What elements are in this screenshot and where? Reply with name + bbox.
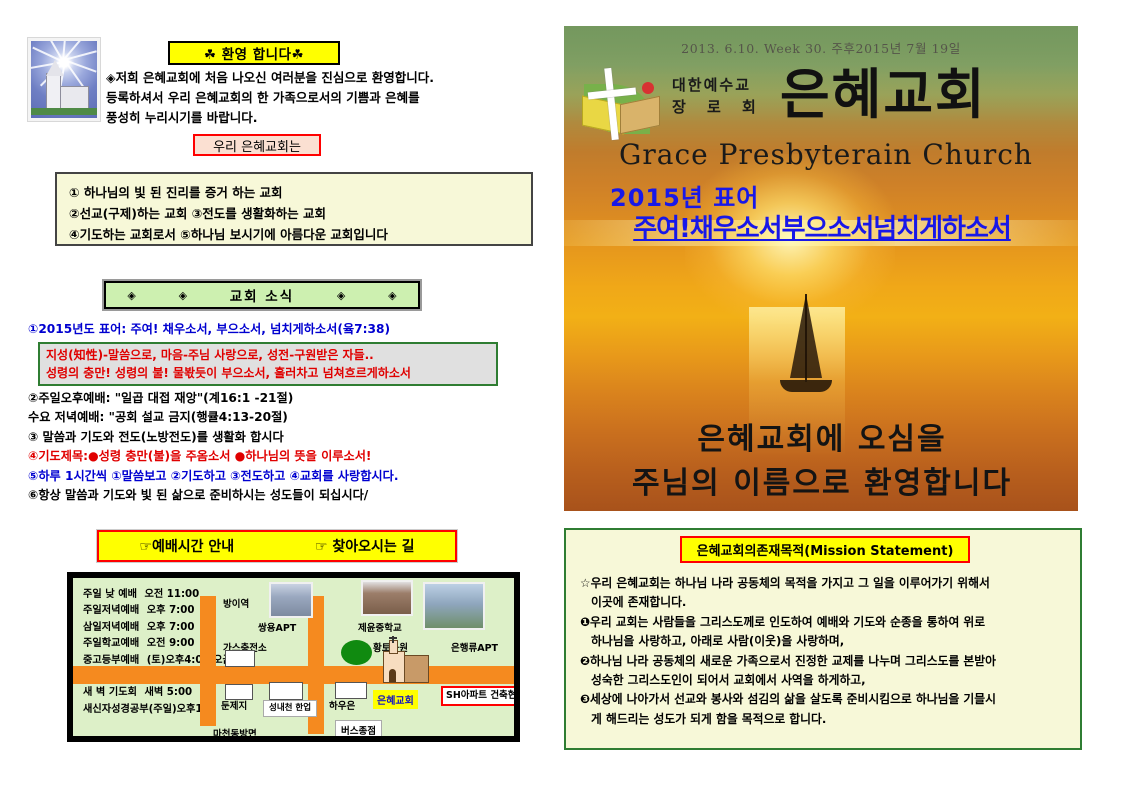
welcome-line-2: 등록하셔서 우리 은혜교회의 한 가족으로서의 기쁨과 은혜를	[106, 88, 536, 108]
mission-statement-body: ☆우리 은혜교회는 하나님 나라 공동체의 목적을 가지고 그 일을 이루어가기…	[580, 574, 1070, 729]
service-name: 새신자성경공부(주일)오후1시	[83, 704, 212, 715]
news-item: ⑤하루 1시간씩 ①말씀보고 ②기도하고 ③전도하고 ④교회를 사랑합시다.	[28, 467, 548, 487]
news-item: ②주일오후예배: "일곱 대접 재앙"(계16:1 -21절)	[28, 389, 548, 409]
identity-line: ④기도하는 교회로서 ⑤하나님 보시기에 아름다운 교회입니다	[69, 224, 519, 245]
news-item: ③ 말씀과 기도와 전도(노방전도)를 생활화 합시다	[28, 428, 548, 448]
our-church-label: 우리 은혜교회는	[193, 134, 321, 156]
map-label-reservoir: 둔제지	[221, 698, 247, 712]
bulletin-date: 2013. 6.10. Week 30. 주후2015년 7월 19일	[564, 38, 1078, 57]
map-photo-school	[361, 580, 413, 616]
welcome-line-3: 풍성히 누리시기를 바랍니다.	[106, 108, 536, 128]
map-label-bus-terminal: 버스종점	[335, 720, 382, 740]
church-hero-banner: 2013. 6.10. Week 30. 주후2015년 7월 19일 대한예수…	[564, 26, 1078, 511]
hero-welcome-line-1: 은혜교회에 오심을	[568, 414, 1076, 458]
map-label-apt2: 은행류APT	[451, 640, 498, 654]
news-item: ⑥항상 말씀과 기도와 빛 된 삶으로 준비하시는 성도들이 되십시다/	[28, 486, 548, 506]
map-label-bank: 하우은	[329, 698, 355, 712]
map-label-apt1: 쌍용APT	[258, 620, 296, 634]
identity-line: ① 하나님의 빛 된 진리를 증거 하는 교회	[69, 182, 519, 203]
mission-statement-box: 은혜교회의존재목적(Mission Statement) ☆우리 은혜교회는 하…	[564, 528, 1082, 750]
left-column: ☘ 환영 합니다☘ ◈저희 은혜교회에 처음 나오신 여러분을 진심으로 환영합…	[0, 0, 556, 794]
grass-strip	[31, 108, 97, 115]
mission-line: ❷하나님 나라 공동체의 새로운 가족으로서 진정한 교제를 나누며 그리스도를…	[580, 652, 1070, 671]
service-time-heading: ☞예배시간 안내	[139, 536, 234, 556]
church-name-korean: 은혜교회	[780, 64, 987, 126]
map-photo-apartment-2	[423, 582, 485, 630]
mission-line: 게 해드리는 성도가 되게 함을 목적으로 합니다.	[580, 710, 1070, 729]
directions-heading: ☞ 찾아오시는 길	[315, 536, 415, 556]
highlight-line: 지성(知性)-말씀으로, 마음-주님 사랑으로, 성전-구원받은 자들..	[46, 346, 490, 364]
denomination-line-2: 장 로 회	[672, 96, 764, 118]
welcome-line-1: ◈저희 은혜교회에 처음 나오신 여러분을 진심으로 환영합니다.	[106, 68, 536, 88]
church-news-header: ◈ ◈ 교회 소식 ◈ ◈	[104, 281, 420, 309]
bulletin-page: ☘ 환영 합니다☘ ◈저희 은혜교회에 처음 나오신 여러분을 진심으로 환영합…	[0, 0, 1123, 794]
right-column: 2013. 6.10. Week 30. 주후2015년 7월 19일 대한예수…	[556, 0, 1123, 794]
service-name: 삼일저녁예배	[83, 622, 139, 633]
church-news-list: ①2015년도 표어: 주여! 채우소서, 부으소서, 넘치게하소서(윸7:38…	[28, 320, 548, 506]
map-photo-apartment	[269, 582, 313, 618]
diamond-icon: ◈	[337, 289, 345, 302]
map-church-icon	[383, 641, 437, 687]
denomination-line-1: 대한예수교	[672, 74, 764, 96]
service-time-row: 삼일저녁예배 오후 7:00	[83, 620, 278, 636]
map-label-school: 제윤중학교	[358, 620, 402, 634]
mission-line: ❶우리 교회는 사람들을 그리스도께로 인도하여 예배와 기도와 순종을 통하여…	[580, 613, 1070, 632]
news-item: ①2015년도 표어: 주여! 채우소서, 부으소서, 넘치게하소서(윸7:38…	[28, 320, 548, 340]
hero-welcome-line-2: 주님의 이름으로 환영합니다	[568, 458, 1076, 502]
map-box-marker	[269, 682, 303, 700]
map-box-marker	[225, 684, 253, 700]
church-photo-thumbnail	[27, 37, 101, 122]
service-time: 오전 11:00	[145, 589, 200, 600]
map-box-marker	[335, 682, 367, 699]
map-label-station: 방이역	[223, 596, 249, 610]
service-time: 오후 7:00	[147, 622, 195, 633]
service-name: 주일학교예배	[83, 638, 139, 649]
map-label-direction: 마천동방면	[213, 726, 257, 740]
diamond-icon: ◈	[388, 289, 396, 302]
service-time: 새벽 5:00	[145, 687, 193, 698]
news-item: 수요 저녁예배: "공회 설교 금지(행큘4:13-20절)	[28, 408, 548, 428]
mission-line: 이곳에 존재합니다.	[580, 593, 1070, 612]
sailboat-icon	[770, 294, 840, 404]
schedule-and-directions-banner: ☞예배시간 안내 ☞ 찾아오시는 길	[97, 530, 457, 562]
church-logo-icon	[578, 66, 664, 144]
church-photo-inner	[31, 41, 97, 118]
diamond-icon: ◈	[127, 289, 135, 302]
service-name: 주일저녁예배	[83, 605, 139, 616]
identity-line: ②선교(구제)하는 교회 ③전도를 생활화하는 교회	[69, 203, 519, 224]
church-identity-box: ① 하나님의 빛 된 진리를 증거 하는 교회 ②선교(구제)하는 교회 ③전도…	[55, 172, 533, 246]
diamond-icon: ◈	[179, 289, 187, 302]
service-name: 새 벽 기도회	[83, 687, 137, 698]
map-label-grace-church: 은혜교회	[373, 690, 418, 709]
map-label-center-text: 성내천 한업	[269, 703, 311, 713]
road-vertical-left	[200, 596, 216, 726]
welcome-message: ◈저희 은혜교회에 처음 나오신 여러분을 진심으로 환영합니다. 등록하셔서 …	[106, 68, 536, 128]
church-news-title: 교회 소식	[230, 285, 294, 305]
directions-map: 주일 낮 예배 오전 11:00 주일저녁예배 오후 7:00 삼일저녁예배 오…	[67, 572, 520, 742]
service-name: 중고등부예배	[83, 655, 139, 666]
map-label-sh-apartment: SH아파트 건축현장	[441, 686, 520, 706]
mission-line: ❸세상에 나아가서 선교와 봉사와 섬김의 삶을 살도록 준비시킴으로 하나님을…	[580, 690, 1070, 709]
welcome-banner: ☘ 환영 합니다☘	[168, 41, 340, 65]
mission-line: 하나님을 사랑하고, 아래로 사람(이웃)을 사랑하며,	[580, 632, 1070, 651]
map-label-center: 성내천 한업	[263, 700, 317, 717]
map-park-circle	[341, 640, 372, 665]
highlight-line: 성령의 충만! 성령의 불! 물봓듯이 부으소서, 흘러차고 넘쳐흐르게하소서	[46, 364, 490, 382]
service-time: 오전 9:00	[147, 638, 195, 649]
slogan-main: 주여!채우소서부으소서넘치게하소서	[568, 208, 1076, 245]
mission-line: 성숙한 그리스도인이 되어서 교회에서 사역을 하게하고,	[580, 671, 1070, 690]
map-box-marker	[225, 650, 255, 667]
church-name-english: Grace Presbyterain Church	[576, 138, 1076, 171]
service-time-row: 새신자성경공부(주일)오후1시	[83, 702, 278, 718]
service-name: 주일 낮 예배	[83, 589, 137, 600]
church-building-icon	[39, 75, 89, 110]
mission-statement-title: 은혜교회의존재목적(Mission Statement)	[680, 536, 970, 563]
denomination-name: 대한예수교 장 로 회	[672, 74, 764, 118]
mission-line: ☆우리 은혜교회는 하나님 나라 공동체의 목적을 가지고 그 일을 이루어가기…	[580, 574, 1070, 593]
service-time: 오후 7:00	[147, 605, 195, 616]
news-highlight-box: 지성(知性)-말씀으로, 마음-주님 사랑으로, 성전-구원받은 자들.. 성령…	[38, 342, 498, 386]
news-item: ④기도제목:●성령 충만(불)을 주옴소서 ●하나님의 뜻을 이루소서!	[28, 447, 548, 467]
